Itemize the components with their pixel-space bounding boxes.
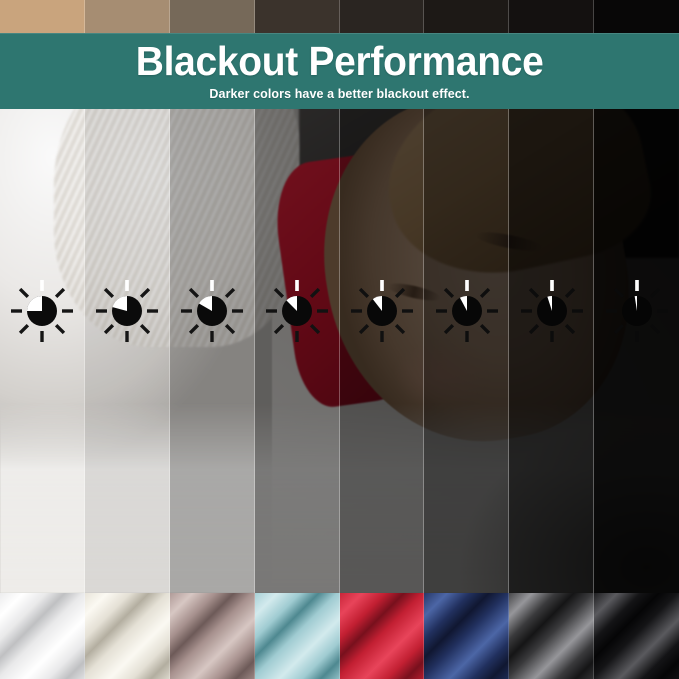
blackout-tint-columns: [0, 34, 679, 593]
fabric-fold-highlight: [0, 593, 85, 679]
color-chip-taupe: [170, 0, 255, 34]
sleeping-child-photo: [0, 34, 679, 593]
color-chip-charcoal: [340, 0, 425, 34]
page-title: Blackout Performance: [136, 41, 544, 83]
fabric-fold-highlight: [85, 593, 170, 679]
blackout-performance-infographic: Blackout Performance Darker colors have …: [0, 0, 679, 679]
fabric-fold-highlight: [170, 593, 255, 679]
color-chip-near-black: [424, 0, 509, 34]
color-chip-tan-mid: [85, 0, 170, 34]
fabric-fold-highlight: [424, 593, 509, 679]
color-chip-deep-black: [509, 0, 594, 34]
tint-column-6: [424, 34, 509, 593]
fabric-fold-highlight: [594, 593, 679, 679]
tint-column-1: [0, 34, 85, 593]
color-gradient-strip: [0, 0, 679, 34]
fabric-swatch-red[interactable]: [340, 593, 425, 679]
tint-column-5: [340, 34, 425, 593]
fabric-fold-highlight: [340, 593, 425, 679]
fabric-swatch-navy[interactable]: [424, 593, 509, 679]
page-subtitle: Darker colors have a better blackout eff…: [209, 86, 469, 101]
tint-column-3: [170, 34, 255, 593]
color-chip-dark-brown: [255, 0, 340, 34]
color-chip-black: [594, 0, 679, 34]
fabric-swatch-white[interactable]: [0, 593, 85, 679]
fabric-swatch-mauve[interactable]: [170, 593, 255, 679]
fabric-color-swatches: [0, 593, 679, 679]
header-band: Blackout Performance Darker colors have …: [0, 33, 679, 109]
fabric-fold-highlight: [509, 593, 594, 679]
fabric-fold-highlight: [255, 593, 340, 679]
fabric-swatch-teal[interactable]: [255, 593, 340, 679]
fabric-swatch-cream[interactable]: [85, 593, 170, 679]
fabric-swatch-dark-grey[interactable]: [509, 593, 594, 679]
fabric-swatch-black[interactable]: [594, 593, 679, 679]
tint-column-2: [85, 34, 170, 593]
tint-column-8: [594, 34, 679, 593]
tint-column-7: [509, 34, 594, 593]
tint-column-4: [255, 34, 340, 593]
color-chip-tan-light: [0, 0, 85, 34]
